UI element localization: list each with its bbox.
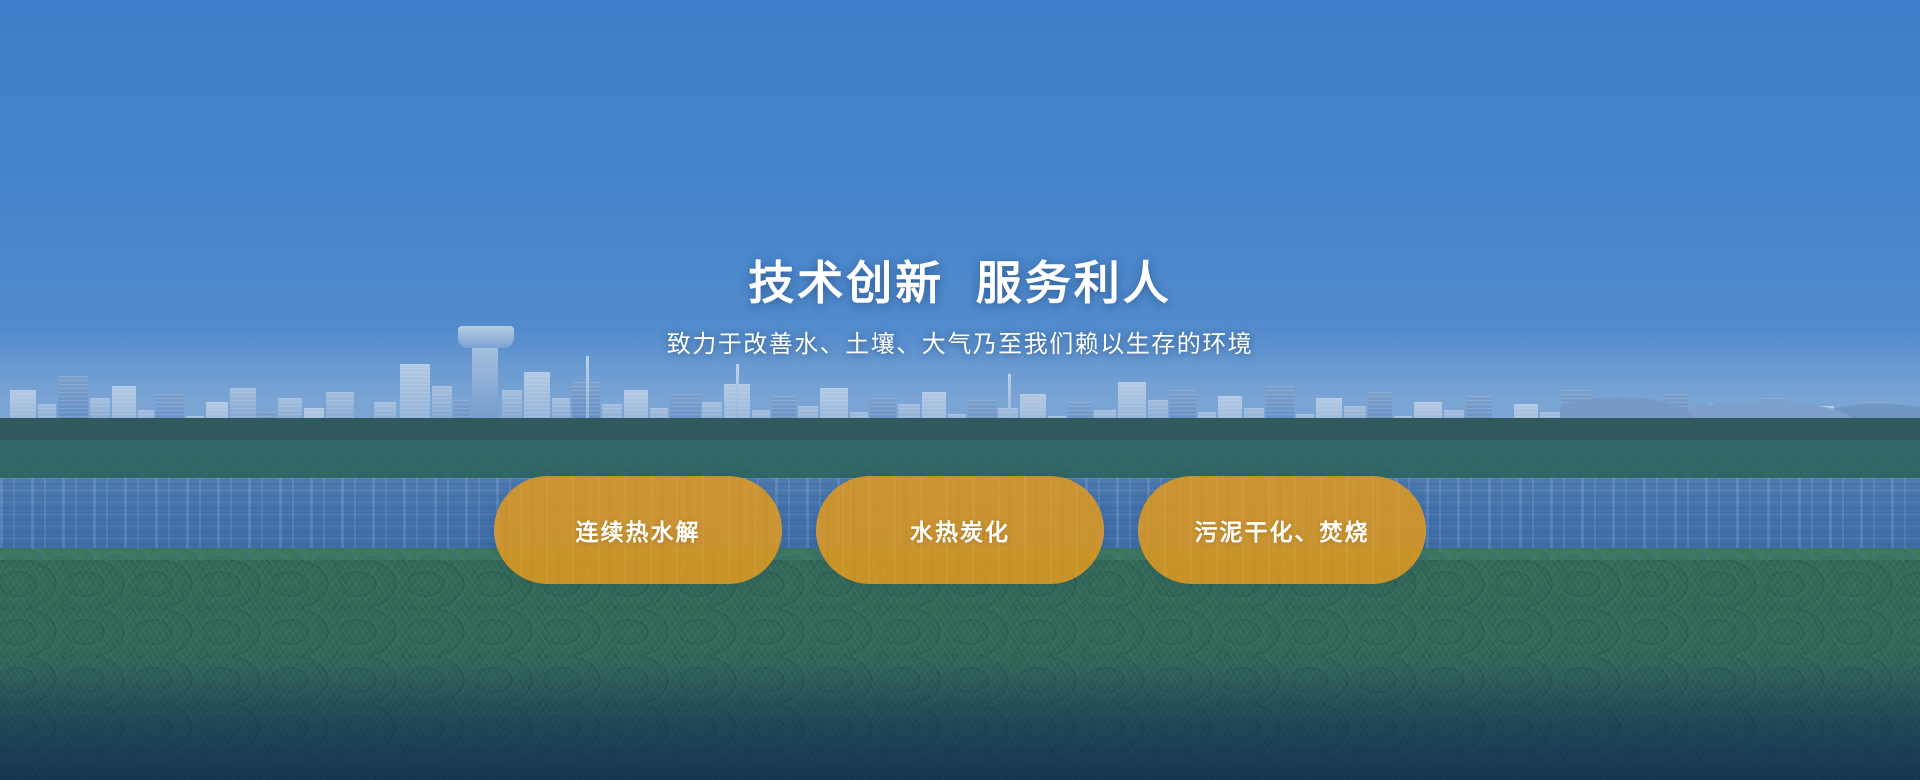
- cta-button-label: 水热炭化: [910, 513, 1010, 547]
- cta-button-label: 连续热水解: [576, 513, 701, 547]
- cta-button-sludge-drying-incineration[interactable]: 污泥干化、焚烧: [1138, 476, 1426, 584]
- cta-button-continuous-thermal-hydrolysis[interactable]: 连续热水解: [494, 476, 782, 584]
- cta-button-label: 污泥干化、焚烧: [1195, 513, 1370, 547]
- landmark-tower-cap: [458, 326, 514, 348]
- canopy-shadow-layer: [0, 660, 1920, 780]
- hero-banner: 技术创新 服务利人 致力于改善水、土壤、大气乃至我们赖以生存的环境 连续热水解 …: [0, 0, 1920, 780]
- cta-button-hydrothermal-carbonization[interactable]: 水热炭化: [816, 476, 1104, 584]
- distant-hills-layer: [1560, 378, 1920, 418]
- hero-background-image: [0, 0, 1920, 780]
- hero-cta-row: 连续热水解 水热炭化 污泥干化、焚烧: [0, 476, 1920, 584]
